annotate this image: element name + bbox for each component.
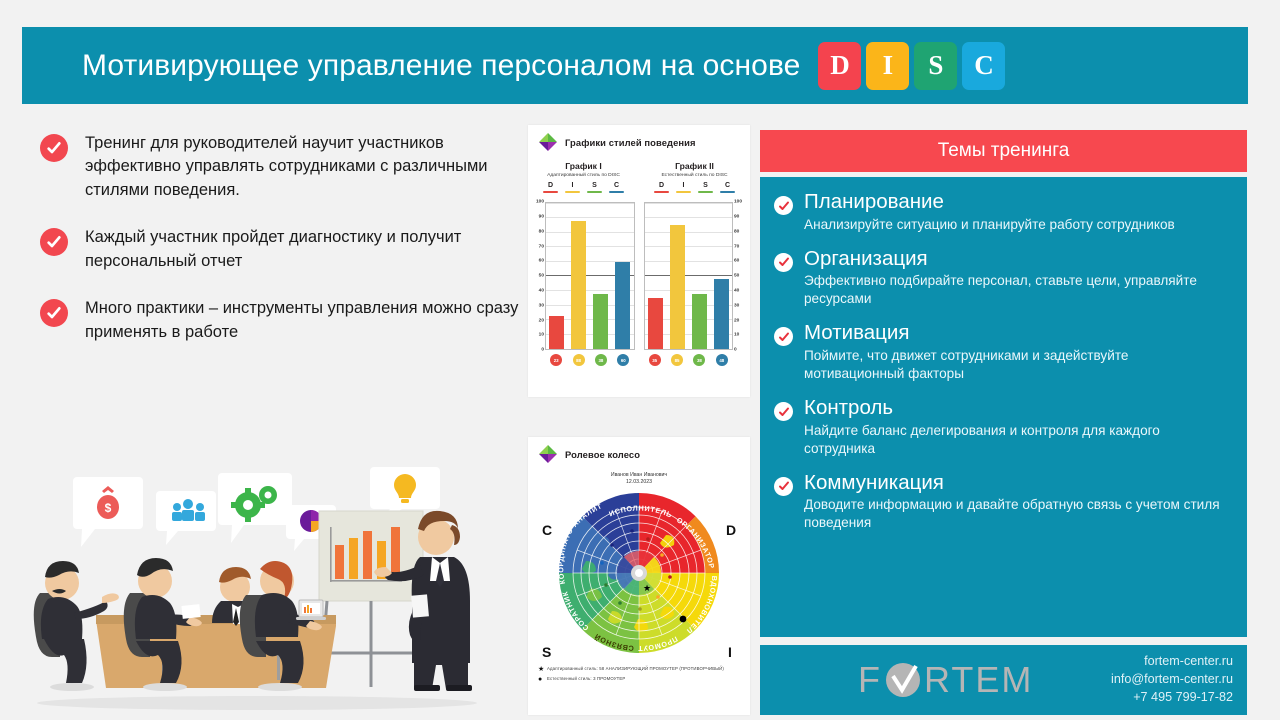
contact-email[interactable]: info@fortem-center.ru xyxy=(1111,671,1233,689)
slide-canvas: Мотивирующее управление персоналом на ос… xyxy=(0,0,1280,720)
bar-group xyxy=(645,203,733,349)
y-tick-label: 80 xyxy=(539,229,544,234)
bar-s xyxy=(593,294,608,349)
bar-c xyxy=(714,279,729,349)
y-tick-label: 50 xyxy=(734,274,739,279)
check-circle-icon xyxy=(774,402,793,421)
wheel-adapted-marker: ★ xyxy=(643,583,651,593)
left-bullet-list: Тренинг для руководителей научит участни… xyxy=(40,132,520,368)
bar-s xyxy=(692,294,707,349)
disc-badge-s: S xyxy=(914,42,957,90)
check-circle-icon xyxy=(774,477,793,496)
topic-item-2[interactable]: ОрганизацияЭффективно подбирайте персона… xyxy=(774,248,1229,309)
disc-badge-group: DISC xyxy=(818,42,1005,90)
value-chip-c: 60 xyxy=(617,354,629,366)
y-tick-label: 90 xyxy=(734,214,739,219)
check-circle-icon xyxy=(774,253,793,272)
y-tick-label: 60 xyxy=(539,259,544,264)
role-wheel-diagram: ★ ИСПОЛНИТЕЛЬ ОРГАНИЗАТОР ВДОХНОВИТЕЛЬ П… xyxy=(528,487,750,662)
y-tick-label: 10 xyxy=(539,333,544,338)
wheel-card-title: Ролевое колесо xyxy=(565,449,640,460)
legend-marker-icon: ● xyxy=(538,676,547,683)
topic-item-1[interactable]: ПланированиеАнализируйте ситуацию и план… xyxy=(774,191,1229,234)
slide-header: Мотивирующее управление персоналом на ос… xyxy=(22,27,1248,104)
chart-caption: Естественный стиль по DISC xyxy=(639,173,750,178)
y-tick-label: 70 xyxy=(539,244,544,249)
chart-subheader-2: График IIЕстественный стиль по DISCDISC xyxy=(639,161,750,193)
y-tick-label: 90 xyxy=(539,214,544,219)
y-axis-left-labels: 0102030405060708090100 xyxy=(530,202,545,350)
y-tick-label: 80 xyxy=(734,229,739,234)
chart-caption: Адаптированный стиль по DISC xyxy=(528,173,639,178)
disc-legend-i: I xyxy=(562,182,584,193)
disc-legend-s: S xyxy=(695,182,717,193)
bullet-item: Много практики – инструменты управления … xyxy=(40,297,520,344)
footer-contacts[interactable]: fortem-center.ruinfo@fortem-center.ru+7 … xyxy=(1111,653,1233,707)
wheel-card-header: Ролевое колесо xyxy=(528,437,750,464)
disc-badge-c: C xyxy=(962,42,1005,90)
logo-text-right: RTEM xyxy=(924,659,1033,701)
fortem-check-circle-icon xyxy=(883,660,923,700)
wheel-axis-letter-i: I xyxy=(728,644,732,660)
disc-letter-legend: DISC xyxy=(528,182,639,193)
topics-header-label: Темы тренинга xyxy=(938,140,1070,162)
y-tick-label: 50 xyxy=(539,274,544,279)
topic-item-3[interactable]: МотивацияПоймите, что движет сотрудникам… xyxy=(774,322,1229,383)
speech-bubble-people xyxy=(156,491,216,545)
y-tick-label: 20 xyxy=(734,318,739,323)
topic-title: Мотивация xyxy=(804,322,1229,345)
disc-letter-legend: DISC xyxy=(639,182,750,193)
wheel-axis-letter-s: S xyxy=(542,644,551,660)
disc-legend-i: I xyxy=(673,182,695,193)
topics-panel-body: ПланированиеАнализируйте ситуацию и план… xyxy=(760,177,1247,637)
topic-description: Анализируйте ситуацию и планируйте работ… xyxy=(804,216,1175,234)
fortem-logo[interactable]: F RTEM xyxy=(858,659,1033,701)
bullet-item: Тренинг для руководителей научит участни… xyxy=(40,132,520,202)
chart-plot-area: 0102030405060708090100 23883860 35853848… xyxy=(528,202,750,366)
check-circle-icon xyxy=(40,228,68,256)
check-circle-icon xyxy=(40,134,68,162)
flipchart xyxy=(319,511,423,687)
y-tick-label: 100 xyxy=(734,200,742,205)
topic-description: Найдите баланс делегирования и контроля … xyxy=(804,422,1229,458)
chart-name: График I xyxy=(528,161,639,171)
disc-legend-s: S xyxy=(584,182,606,193)
plot-graph-2 xyxy=(644,202,734,350)
legend-text: Адаптированный стиль: 58 АНАЛИЗИРУЮЩИЙ П… xyxy=(547,666,724,672)
plot-1-value-chips: 23883860 xyxy=(545,354,635,366)
chart-subheaders: График IАдаптированный стиль по DISCDISC… xyxy=(528,161,750,193)
plot-2-value-chips: 35853848 xyxy=(644,354,734,366)
disc-legend-c: C xyxy=(606,182,628,193)
wheel-legend-row: ★Адаптированный стиль: 58 АНАЛИЗИРУЮЩИЙ … xyxy=(538,666,740,673)
diamond-logo-icon xyxy=(538,132,558,152)
value-chip-c: 48 xyxy=(716,354,728,366)
topic-item-5[interactable]: КоммуникацияДоводите информацию и давайт… xyxy=(774,472,1229,533)
value-chip-d: 35 xyxy=(649,354,661,366)
easel-legs xyxy=(320,601,421,687)
behavior-styles-chart-card[interactable]: Графики стилей поведения График IАдаптир… xyxy=(528,125,750,397)
legend-marker-icon: ★ xyxy=(538,666,547,673)
business-meeting-illustration: $ xyxy=(22,465,492,715)
laptop-icon xyxy=(296,600,326,620)
disc-legend-d: D xyxy=(651,182,673,193)
y-tick-label: 0 xyxy=(734,348,737,353)
bullet-text: Много практики – инструменты управления … xyxy=(85,297,520,344)
chart-name: График II xyxy=(639,161,750,171)
svg-text:$: $ xyxy=(105,501,112,515)
bullet-item: Каждый участник пройдет диагностику и по… xyxy=(40,226,520,273)
contact-phone[interactable]: +7 495 799-17-82 xyxy=(1111,689,1233,707)
legend-text: Естественный стиль: 3 ПРОМОУТЕР xyxy=(547,676,625,682)
y-tick-label: 20 xyxy=(539,318,544,323)
chart-card-header: Графики стилей поведения xyxy=(528,125,750,152)
y-tick-label: 70 xyxy=(734,244,739,249)
value-chip-i: 88 xyxy=(573,354,585,366)
disc-legend-c: C xyxy=(717,182,739,193)
page-title: Мотивирующее управление персоналом на ос… xyxy=(82,49,800,83)
disc-legend-d: D xyxy=(540,182,562,193)
slide-footer: F RTEM fortem-center.ruinfo@fortem-cente… xyxy=(760,645,1247,715)
wheel-axis-letter-d: D xyxy=(726,522,736,538)
wheel-legend-row: ●Естественный стиль: 3 ПРОМОУТЕР xyxy=(538,676,740,683)
disc-badge-i: I xyxy=(866,42,909,90)
y-tick-label: 30 xyxy=(539,303,544,308)
topics-panel-header: Темы тренинга xyxy=(760,130,1247,172)
value-chip-s: 38 xyxy=(693,354,705,366)
value-chip-d: 23 xyxy=(550,354,562,366)
wheel-natural-marker xyxy=(680,616,687,623)
check-circle-icon xyxy=(774,196,793,215)
plot-graph-1 xyxy=(545,202,635,350)
y-tick-label: 100 xyxy=(536,200,544,205)
y-tick-label: 40 xyxy=(539,288,544,293)
report-date: 12.03.2023 xyxy=(528,479,750,485)
topic-item-4[interactable]: КонтрольНайдите баланс делегирования и к… xyxy=(774,397,1229,458)
topic-description: Поймите, что движет сотрудниками и задей… xyxy=(804,347,1229,383)
y-tick-label: 40 xyxy=(734,288,739,293)
topic-description: Эффективно подбирайте персонал, ставьте … xyxy=(804,272,1229,308)
topic-description: Доводите информацию и давайте обратную с… xyxy=(804,496,1229,532)
y-tick-label: 0 xyxy=(541,348,544,353)
topic-title: Организация xyxy=(804,248,1229,271)
bar-d xyxy=(648,298,663,349)
contact-website[interactable]: fortem-center.ru xyxy=(1111,653,1233,671)
y-axis-right-labels: 0102030405060708090100 xyxy=(733,202,748,350)
value-chip-i: 85 xyxy=(671,354,683,366)
chart-subheader-1: График IАдаптированный стиль по DISCDISC xyxy=(528,161,639,193)
speech-bubble-gears xyxy=(218,473,292,543)
y-tick-label: 30 xyxy=(734,303,739,308)
bar-i xyxy=(670,225,685,349)
check-circle-icon xyxy=(40,299,68,327)
y-tick-label: 10 xyxy=(734,333,739,338)
chart-card-title: Графики стилей поведения xyxy=(565,137,696,148)
disc-badge-d: D xyxy=(818,42,861,90)
y-tick-label: 60 xyxy=(734,259,739,264)
wheel-person-info: Иванов Иван Иванович 12.03.2023 xyxy=(528,472,750,485)
check-circle-icon xyxy=(774,327,793,346)
wheel-legend: ★Адаптированный стиль: 58 АНАЛИЗИРУЮЩИЙ … xyxy=(528,662,750,683)
topic-title: Коммуникация xyxy=(804,472,1229,495)
person-name: Иванов Иван Иванович xyxy=(528,472,750,478)
bullet-text: Тренинг для руководителей научит участни… xyxy=(85,132,520,202)
topic-title: Контроль xyxy=(804,397,1229,420)
wheel-center-hub xyxy=(617,551,661,595)
speech-bubble-money: $ xyxy=(73,477,143,547)
bar-group xyxy=(546,203,634,349)
logo-text-left: F xyxy=(858,659,882,701)
diamond-logo-icon xyxy=(538,444,558,464)
bar-d xyxy=(549,316,564,350)
wheel-axis-letter-c: C xyxy=(542,522,552,538)
topic-title: Планирование xyxy=(804,191,1175,214)
bar-c xyxy=(615,262,630,350)
svg-text:★: ★ xyxy=(643,583,651,593)
value-chip-s: 38 xyxy=(595,354,607,366)
bar-i xyxy=(571,221,586,349)
role-wheel-card[interactable]: Ролевое колесо Иванов Иван Иванович 12.0… xyxy=(528,437,750,715)
bullet-text: Каждый участник пройдет диагностику и по… xyxy=(85,226,520,273)
